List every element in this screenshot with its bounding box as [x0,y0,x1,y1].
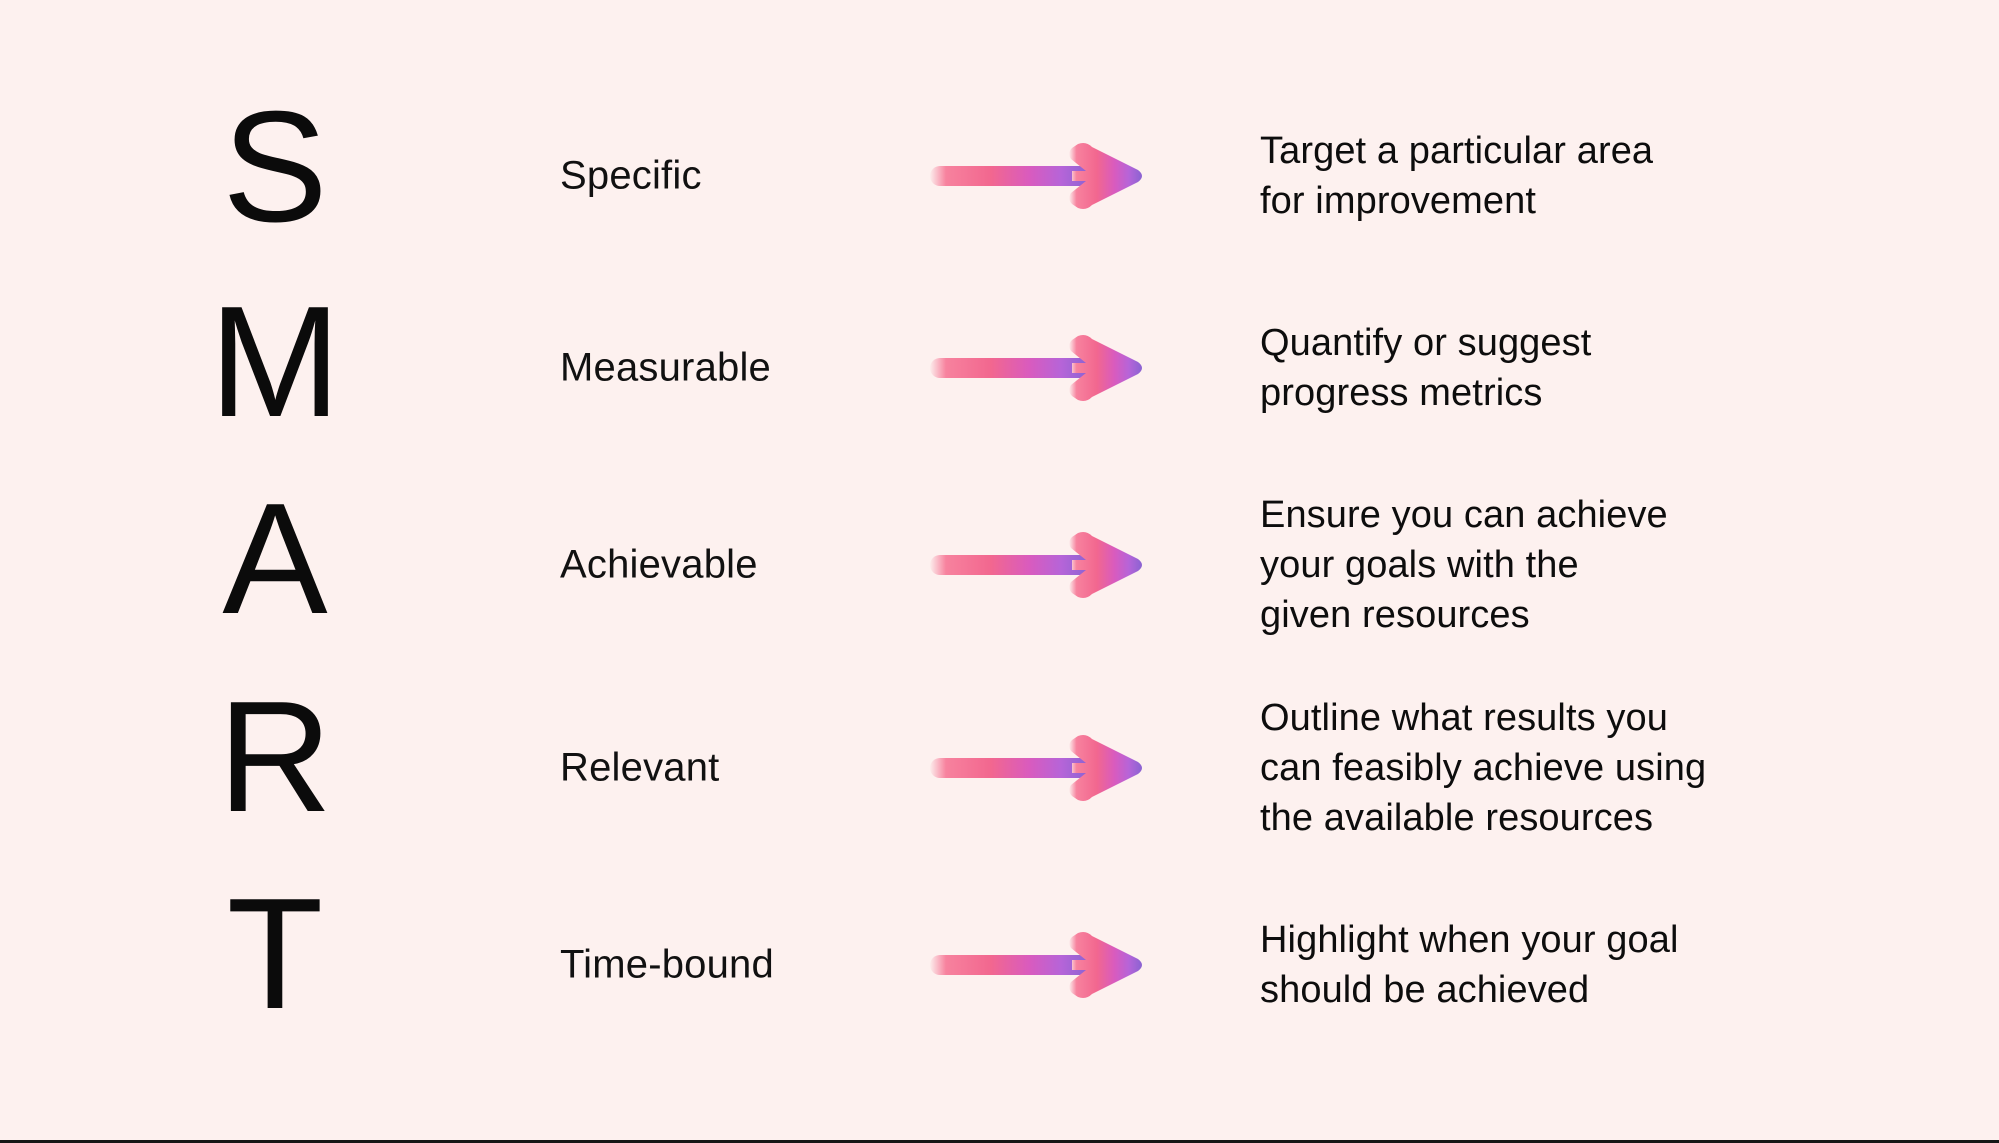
desc-line: given resources [1260,590,1900,640]
row-description-measurable: Quantify or suggest progress metrics [1260,318,1900,418]
right-arrow-icon [930,929,1160,1001]
right-arrow-icon [930,332,1160,404]
smart-rows: Specific [0,0,1999,1143]
row-label-time-bound: Time-bound [560,943,774,988]
row-description-time-bound: Highlight when your goal should be achie… [1260,915,1900,1015]
desc-line: Ensure you can achieve [1260,490,1900,540]
desc-line: should be achieved [1260,965,1900,1015]
desc-line: Quantify or suggest [1260,318,1900,368]
desc-line: Highlight when your goal [1260,915,1900,965]
right-arrow-icon [930,140,1160,212]
row-label-specific: Specific [560,154,702,199]
row-label-achievable: Achievable [560,543,758,588]
row-description-relevant: Outline what results you can feasibly ac… [1260,693,1900,843]
desc-line: progress metrics [1260,368,1900,418]
row-label-relevant: Relevant [560,746,719,791]
desc-line: Outline what results you [1260,693,1900,743]
desc-line: can feasibly achieve using [1260,743,1900,793]
right-arrow-icon [930,732,1160,804]
row-label-measurable: Measurable [560,346,771,391]
row-description-achievable: Ensure you can achieve your goals with t… [1260,490,1900,640]
right-arrow-icon [930,529,1160,601]
desc-line: the available resources [1260,793,1900,843]
desc-line: your goals with the [1260,540,1900,590]
desc-line: Target a particular area [1260,126,1900,176]
row-description-specific: Target a particular area for improvement [1260,126,1900,226]
desc-line: for improvement [1260,176,1900,226]
smart-goals-diagram: S M A R T Specific [0,0,1999,1143]
